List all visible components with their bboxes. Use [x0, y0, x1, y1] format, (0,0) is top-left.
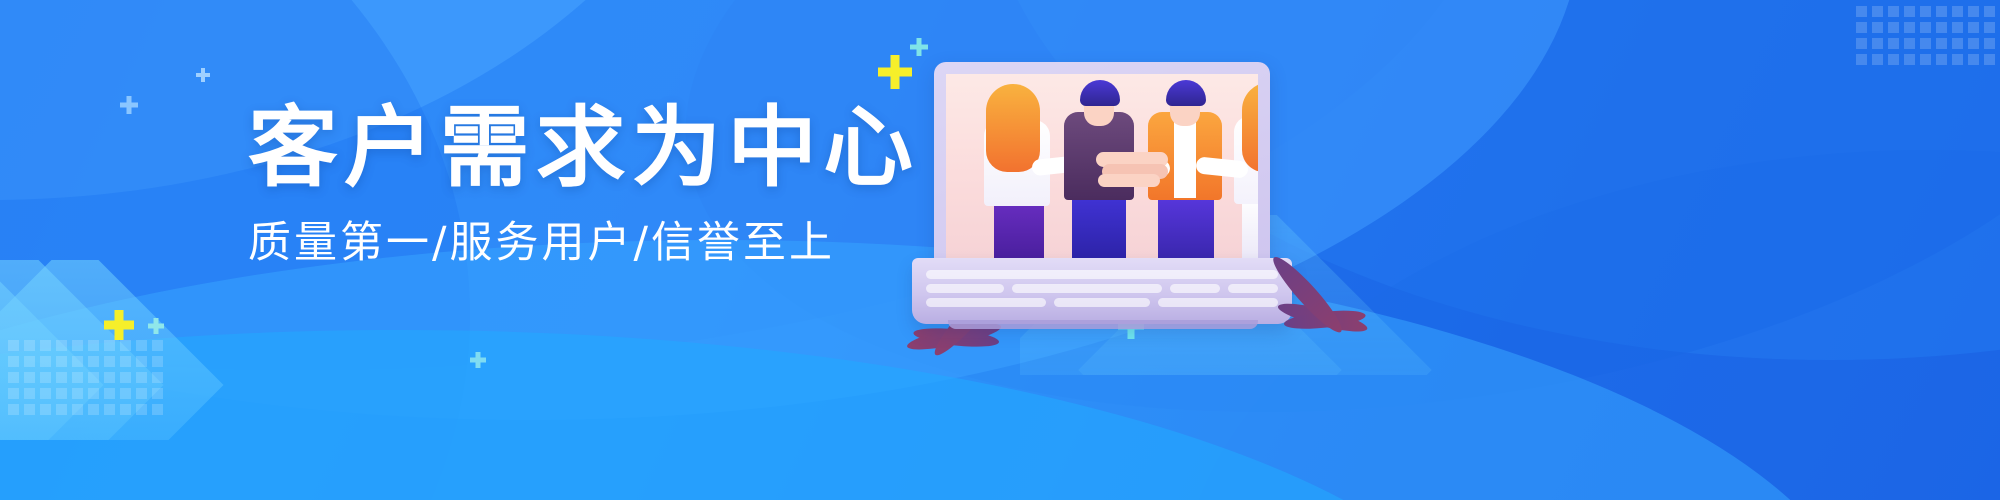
plus-cyan-mid-icon	[120, 96, 138, 114]
grid-dot	[120, 340, 131, 351]
grid-dot	[24, 404, 35, 415]
grid-dot	[56, 356, 67, 367]
grid-dot	[120, 388, 131, 399]
grid-dot	[8, 356, 19, 367]
grid-dot	[72, 356, 83, 367]
person-man-center-right-legs	[1158, 192, 1214, 258]
grid-dot	[104, 388, 115, 399]
grid-dot	[120, 404, 131, 415]
grid-dot	[120, 356, 131, 367]
promo-banner: 客户需求为中心 质量第一/服务用户/信誉至上	[0, 0, 2000, 500]
grid-dot	[40, 340, 51, 351]
laptop-illustration	[912, 62, 1312, 352]
page-title: 客户需求为中心	[248, 104, 880, 192]
grid-dot	[24, 340, 35, 351]
grid-dot	[24, 388, 35, 399]
grid-dot	[136, 340, 147, 351]
grid-dot	[152, 388, 163, 399]
grid-dot	[56, 404, 67, 415]
grid-dot	[152, 356, 163, 367]
person-woman-right-hair	[1242, 82, 1258, 172]
person-man-center-left-hair	[1080, 80, 1120, 106]
grid-dot	[88, 404, 99, 415]
grid-dot	[104, 356, 115, 367]
person-woman-right	[1222, 78, 1258, 258]
grid-dot	[88, 356, 99, 367]
grid-dot	[152, 372, 163, 383]
page-subtitle: 质量第一/服务用户/信誉至上	[248, 222, 868, 265]
grid-dot	[136, 404, 147, 415]
grid-dot	[72, 404, 83, 415]
grid-dot	[104, 404, 115, 415]
grid-dot	[104, 340, 115, 351]
grid-dot	[152, 340, 163, 351]
grid-dot	[24, 356, 35, 367]
grid-dot	[40, 388, 51, 399]
grid-dot	[56, 340, 67, 351]
laptop-lid	[934, 62, 1270, 264]
laptop-foot	[948, 320, 1258, 329]
grid-dot	[56, 388, 67, 399]
person-woman-left-hair	[986, 84, 1040, 172]
grid-dot	[88, 388, 99, 399]
chevron-arrows-left	[0, 260, 300, 440]
stacked-hands-icon	[1096, 152, 1172, 186]
laptop-keyboard-base	[912, 258, 1292, 324]
grid-dot	[40, 404, 51, 415]
plus-cyan-bottom-left-icon	[148, 318, 164, 334]
grid-dot	[136, 372, 147, 383]
grid-dot	[40, 356, 51, 367]
person-man-center-right-shirt	[1174, 116, 1196, 198]
grid-dot	[8, 340, 19, 351]
grid-dot	[72, 388, 83, 399]
plus-white-upper-icon	[196, 68, 210, 82]
plus-yellow-bottom-icon	[104, 310, 134, 340]
grid-dot	[136, 356, 147, 367]
leaf-frond-right-icon	[1256, 236, 1376, 346]
grid-dot	[72, 372, 83, 383]
grid-dot	[8, 372, 19, 383]
person-man-center-right-hair	[1166, 80, 1206, 106]
plus-cyan-center-icon	[470, 352, 486, 368]
grid-dot	[24, 372, 35, 383]
grid-dot	[88, 372, 99, 383]
person-woman-left	[968, 82, 1060, 258]
grid-dot	[40, 372, 51, 383]
grid-dot	[136, 388, 147, 399]
laptop-screen	[946, 74, 1258, 258]
grid-dot	[8, 388, 19, 399]
person-man-center-left-legs	[1072, 192, 1126, 258]
banner-text-block: 客户需求为中心 质量第一/服务用户/信誉至上	[248, 104, 868, 265]
grid-dot	[56, 372, 67, 383]
grid-dot	[104, 372, 115, 383]
grid-dot	[8, 404, 19, 415]
grid-dot	[152, 404, 163, 415]
grid-dot	[72, 340, 83, 351]
grid-dot	[88, 340, 99, 351]
grid-dot	[120, 372, 131, 383]
